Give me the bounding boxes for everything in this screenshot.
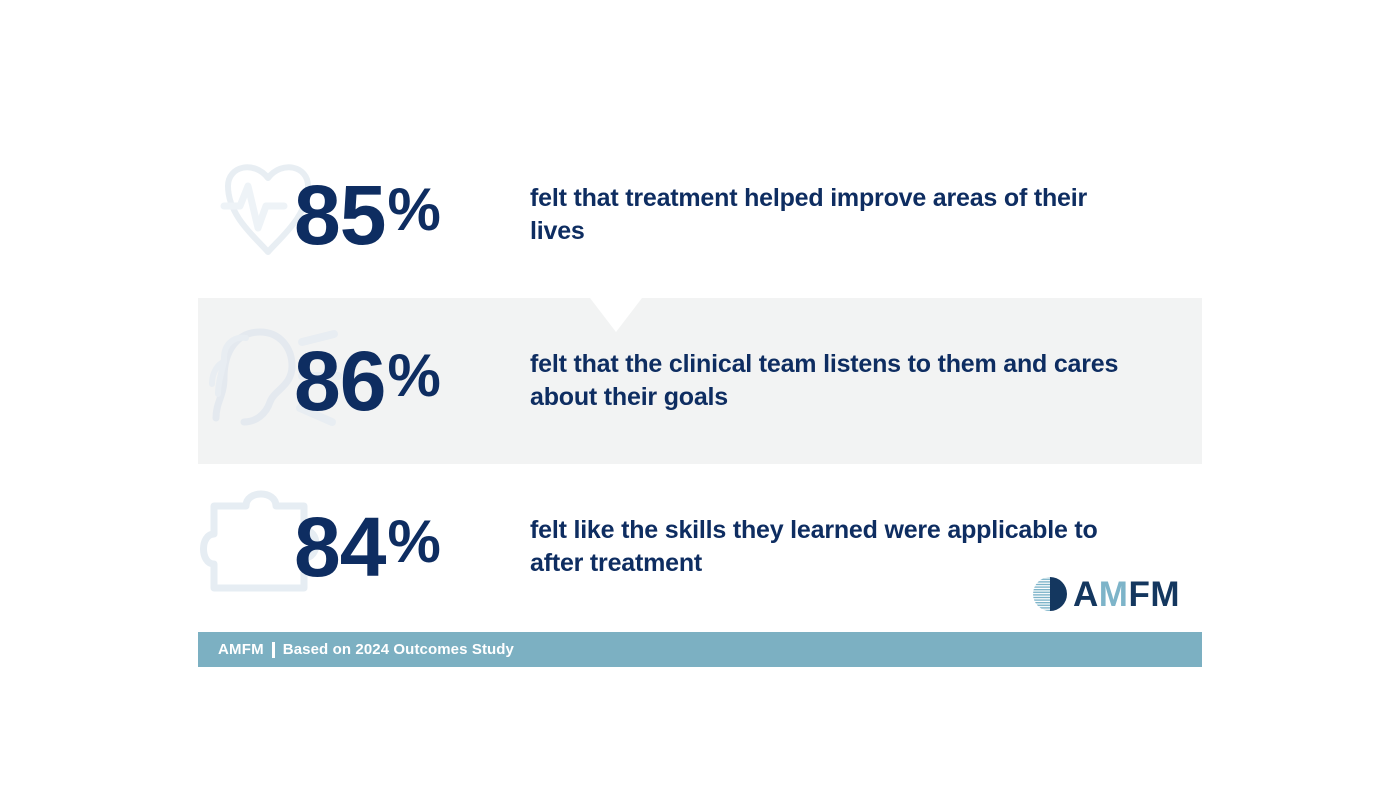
stat-caption-2: felt that the clinical team listens to t… bbox=[530, 348, 1130, 415]
stat-value-2: 86 bbox=[294, 334, 385, 428]
percent-sign-1: % bbox=[387, 176, 439, 243]
stat-row-2: 86% felt that the clinical team listens … bbox=[198, 298, 1202, 464]
logo-letter-m2: M bbox=[1150, 575, 1180, 614]
percent-sign-2: % bbox=[387, 342, 439, 409]
amfm-circle-mark-icon bbox=[1032, 576, 1068, 612]
logo-letter-f: F bbox=[1128, 575, 1150, 614]
stat-band-1: 85% felt that treatment helped improve a… bbox=[198, 132, 1202, 298]
percent-sign-3: % bbox=[387, 508, 439, 575]
stat-row-1: 85% felt that treatment helped improve a… bbox=[198, 132, 1202, 298]
amfm-logo: AMFM bbox=[1032, 576, 1180, 612]
stat-value-3: 84 bbox=[294, 500, 385, 594]
footer-separator bbox=[272, 642, 275, 658]
stat-caption-1: felt that treatment helped improve areas… bbox=[530, 182, 1130, 249]
logo-letter-a: A bbox=[1073, 575, 1099, 614]
infographic-slide: 85% felt that treatment helped improve a… bbox=[0, 0, 1400, 800]
footer-source-note: Based on 2024 Outcomes Study bbox=[283, 641, 514, 658]
footer-brand: AMFM bbox=[218, 641, 264, 658]
amfm-logo-text: AMFM bbox=[1073, 577, 1180, 612]
stat-value-1: 85 bbox=[294, 168, 385, 262]
logo-letter-m1: M bbox=[1099, 575, 1129, 614]
source-footer-bar: AMFM Based on 2024 Outcomes Study bbox=[198, 632, 1202, 667]
stat-band-2: 86% felt that the clinical team listens … bbox=[198, 298, 1202, 464]
stat-caption-3: felt like the skills they learned were a… bbox=[530, 514, 1130, 581]
